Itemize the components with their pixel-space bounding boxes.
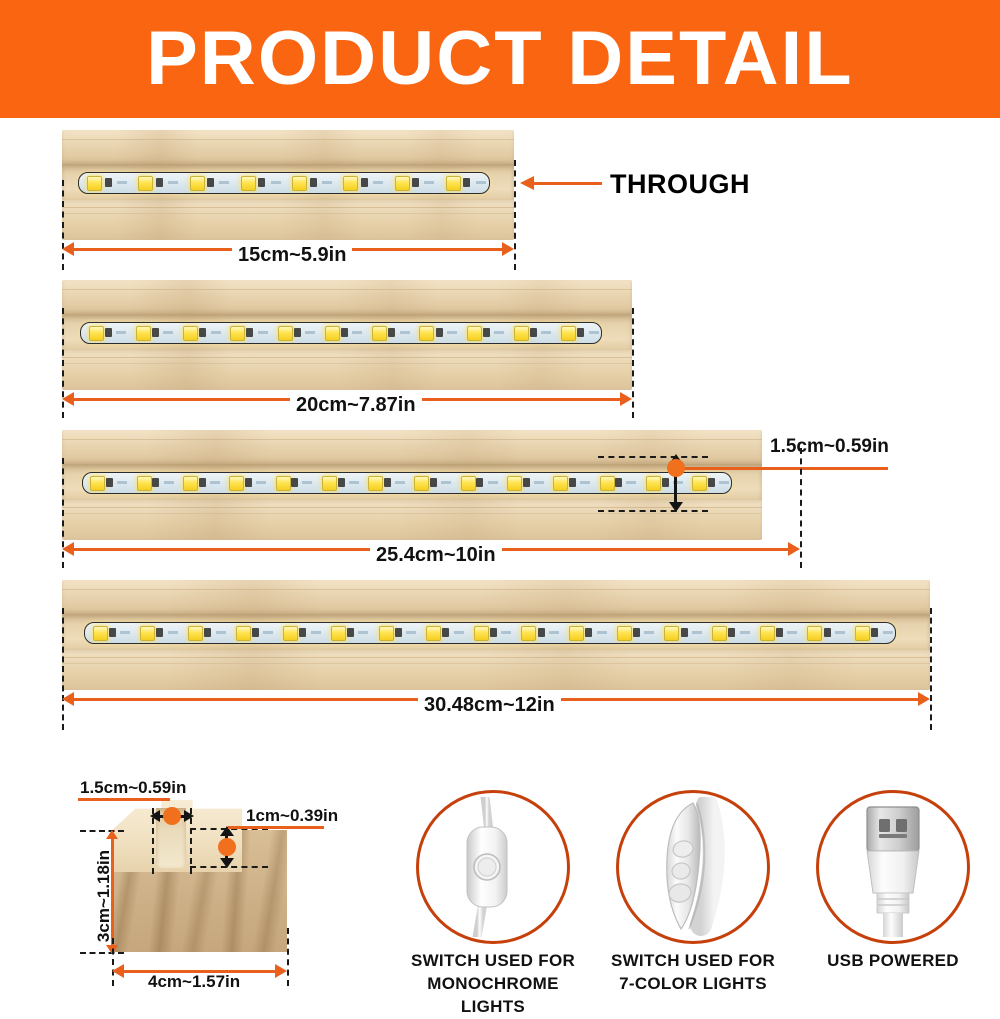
led-trace <box>216 631 226 634</box>
product-detail-stage: 15cm~5.9in THROUGH 20cm~7.87in <box>0 118 1000 1000</box>
led-solder-pad <box>523 478 530 487</box>
led-trace <box>395 481 405 484</box>
led-trace <box>501 631 511 634</box>
led-chip <box>467 326 482 341</box>
led-trace <box>441 481 451 484</box>
led-solder-pad <box>395 628 402 637</box>
led-solder-pad <box>490 628 497 637</box>
feature-caption-line2: MONOCHROME LIGHTS <box>398 973 588 1019</box>
feature-caption-line2: 7-COLOR LIGHTS <box>598 973 788 996</box>
led-trace <box>349 481 359 484</box>
led-solder-pad <box>310 178 317 187</box>
extension-line-right <box>930 608 932 730</box>
led-strip <box>84 622 896 644</box>
led-trace <box>447 331 457 334</box>
led-trace <box>322 181 332 184</box>
led-chip <box>236 626 251 641</box>
shelf-top-rail <box>62 430 762 464</box>
usb-connector-icon <box>823 797 963 937</box>
extension-line-right <box>514 160 516 270</box>
led-trace <box>883 631 893 634</box>
led-solder-pad <box>156 628 163 637</box>
led-trace <box>120 631 130 634</box>
led-trace <box>740 631 750 634</box>
led-trace <box>210 481 220 484</box>
led-chip <box>93 626 108 641</box>
led-solder-pad <box>105 328 112 337</box>
feature-ring <box>416 790 570 944</box>
led-solder-pad <box>361 178 368 187</box>
led-trace <box>256 481 266 484</box>
led-solder-pad <box>569 478 576 487</box>
shelf-20cm <box>62 280 632 390</box>
led-chip <box>521 626 536 641</box>
led-solder-pad <box>204 628 211 637</box>
led-chip <box>140 626 155 641</box>
shelf-led-channel <box>62 614 930 650</box>
led-chip <box>138 176 153 191</box>
led-solder-pad <box>681 628 688 637</box>
led-chip <box>190 176 205 191</box>
extension-line-right <box>800 448 802 568</box>
led-solder-pad <box>252 628 259 637</box>
led-trace <box>117 181 127 184</box>
led-trace <box>271 181 281 184</box>
led-solder-pad <box>109 628 116 637</box>
extension-line-left <box>62 608 64 730</box>
width-guide-right <box>287 928 289 986</box>
led-solder-pad <box>207 178 214 187</box>
led-solder-pad <box>585 628 592 637</box>
led-solder-pad <box>199 478 206 487</box>
led-trace <box>494 331 504 334</box>
led-chip <box>325 326 340 341</box>
led-chip <box>553 476 568 491</box>
feature-switch-monochrome: SWITCH USED FOR MONOCHROME LIGHTS <box>398 790 588 1000</box>
led-trace <box>719 481 729 484</box>
shelf-led-channel <box>62 314 632 350</box>
led-chip <box>569 626 584 641</box>
led-strip <box>78 172 490 194</box>
led-chip <box>760 626 775 641</box>
depth-leader-line <box>676 467 888 470</box>
led-trace <box>589 331 599 334</box>
dimension-label-groove-depth-cs: 1cm~0.39in <box>246 806 338 826</box>
led-chip <box>136 326 151 341</box>
led-solder-pad <box>728 628 735 637</box>
led-solder-pad <box>577 328 584 337</box>
led-chip <box>183 476 198 491</box>
header-banner: PRODUCT DETAIL <box>0 0 1000 118</box>
led-solder-pad <box>412 178 419 187</box>
extension-line-right <box>632 308 634 418</box>
led-solder-pad <box>615 478 622 487</box>
through-label: THROUGH <box>610 169 750 200</box>
depth-guide-top <box>598 456 708 458</box>
feature-caption: USB POWERED <box>798 950 988 973</box>
shelf-top-rail <box>62 130 514 164</box>
led-chip <box>461 476 476 491</box>
led-trace <box>358 631 368 634</box>
dimension-label-height: 3cm~1.18in <box>94 850 114 942</box>
led-solder-pad <box>384 478 391 487</box>
feature-caption: SWITCH USED FOR 7-COLOR LIGHTS <box>598 950 788 996</box>
led-chip <box>137 476 152 491</box>
dimension-label-30cm: 30.48cm~12in <box>418 694 561 717</box>
led-chip <box>278 326 293 341</box>
led-strip <box>80 322 602 344</box>
led-chip <box>807 626 822 641</box>
shelf-15cm <box>62 130 514 240</box>
led-trace <box>164 481 174 484</box>
led-trace <box>534 481 544 484</box>
led-trace <box>597 631 607 634</box>
led-chip <box>343 176 358 191</box>
feature-ring <box>616 790 770 944</box>
feature-switch-7color: SWITCH USED FOR 7-COLOR LIGHTS <box>598 790 788 1000</box>
led-chip <box>372 326 387 341</box>
led-solder-pad <box>156 178 163 187</box>
led-chip <box>426 626 441 641</box>
groove-width-leader <box>78 798 170 801</box>
led-chip <box>474 626 489 641</box>
shelf-30cm <box>62 580 930 690</box>
led-trace <box>406 631 416 634</box>
led-solder-pad <box>341 328 348 337</box>
led-chip <box>90 476 105 491</box>
led-chip <box>712 626 727 641</box>
dimension-label-groove-depth: 1.5cm~0.59in <box>764 436 895 458</box>
led-trace <box>580 481 590 484</box>
shelf-front-lip <box>62 350 632 390</box>
led-trace <box>424 181 434 184</box>
led-trace <box>541 331 551 334</box>
led-trace <box>168 181 178 184</box>
inline-switch-icon <box>423 797 563 937</box>
led-solder-pad <box>538 628 545 637</box>
feature-caption-line1: SWITCH USED FOR <box>398 950 588 973</box>
led-chip <box>229 476 244 491</box>
led-solder-pad <box>299 628 306 637</box>
led-trace <box>692 631 702 634</box>
led-chip <box>664 626 679 641</box>
led-solder-pad <box>871 628 878 637</box>
shelf-top-rail <box>62 580 930 614</box>
led-solder-pad <box>294 328 301 337</box>
led-trace <box>454 631 464 634</box>
led-chip <box>379 626 394 641</box>
led-chip <box>292 176 307 191</box>
led-chip <box>183 326 198 341</box>
led-chip <box>188 626 203 641</box>
led-solder-pad <box>824 628 831 637</box>
led-trace <box>644 631 654 634</box>
led-trace <box>488 481 498 484</box>
led-chip <box>368 476 383 491</box>
led-chip <box>617 626 632 641</box>
shelf-led-channel <box>62 464 762 500</box>
led-chip <box>283 626 298 641</box>
led-trace <box>219 181 229 184</box>
cross-section-diagram: 1.5cm~0.59in 1cm~0.39in 3cm~1.18in 4cm~1… <box>70 778 380 1000</box>
extension-line-left <box>62 180 64 270</box>
led-chip <box>419 326 434 341</box>
led-trace <box>311 631 321 634</box>
dimension-label-20cm: 20cm~7.87in <box>290 394 422 417</box>
groove-depth-leader <box>228 826 324 829</box>
led-solder-pad <box>199 328 206 337</box>
led-chip <box>561 326 576 341</box>
led-trace <box>302 481 312 484</box>
shelf-front-lip <box>62 500 762 540</box>
led-solder-pad <box>258 178 265 187</box>
led-strip <box>82 472 732 494</box>
shelf-led-channel <box>62 164 514 200</box>
led-chip <box>322 476 337 491</box>
led-chip <box>507 476 522 491</box>
page-title: PRODUCT DETAIL <box>146 21 854 97</box>
three-button-remote-icon <box>623 797 763 937</box>
dimension-label-groove-width: 1.5cm~0.59in <box>80 778 186 798</box>
shelf-front-lip <box>62 650 930 690</box>
feature-ring <box>816 790 970 944</box>
led-solder-pad <box>530 328 537 337</box>
led-trace <box>258 331 268 334</box>
led-solder-pad <box>347 628 354 637</box>
led-solder-pad <box>430 478 437 487</box>
led-solder-pad <box>245 478 252 487</box>
led-trace <box>116 331 126 334</box>
led-solder-pad <box>388 328 395 337</box>
led-solder-pad <box>463 178 470 187</box>
led-trace <box>168 631 178 634</box>
led-solder-pad <box>483 328 490 337</box>
led-chip <box>855 626 870 641</box>
led-solder-pad <box>776 628 783 637</box>
led-solder-pad <box>105 178 112 187</box>
led-trace <box>787 631 797 634</box>
led-trace <box>835 631 845 634</box>
led-solder-pad <box>246 328 253 337</box>
led-chip <box>230 326 245 341</box>
led-chip <box>414 476 429 491</box>
led-solder-pad <box>152 478 159 487</box>
shelf-top-rail <box>62 280 632 314</box>
led-trace <box>305 331 315 334</box>
led-chip <box>446 176 461 191</box>
led-chip <box>600 476 615 491</box>
led-trace <box>373 181 383 184</box>
led-chip <box>241 176 256 191</box>
depth-leader-dot <box>667 459 685 477</box>
led-chip <box>646 476 661 491</box>
shelf-25cm <box>62 430 762 540</box>
led-chip <box>276 476 291 491</box>
feature-caption-line1: SWITCH USED FOR <box>598 950 788 973</box>
led-trace <box>626 481 636 484</box>
led-trace <box>263 631 273 634</box>
feature-caption-line1: USB POWERED <box>798 950 988 973</box>
led-trace <box>117 481 127 484</box>
led-solder-pad <box>436 328 443 337</box>
feature-caption: SWITCH USED FOR MONOCHROME LIGHTS <box>398 950 588 1019</box>
led-chip <box>89 326 104 341</box>
depth-guide-bottom <box>598 510 708 512</box>
led-trace <box>400 331 410 334</box>
led-solder-pad <box>338 478 345 487</box>
feature-usb-powered: USB POWERED <box>798 790 988 1000</box>
led-solder-pad <box>708 478 715 487</box>
led-solder-pad <box>476 478 483 487</box>
dimension-label-width: 4cm~1.57in <box>148 972 240 992</box>
led-chip <box>514 326 529 341</box>
groove-width-dot <box>163 807 181 825</box>
led-chip <box>395 176 410 191</box>
dimension-label-25cm: 25.4cm~10in <box>370 544 502 567</box>
shelf-front-lip <box>62 200 514 240</box>
led-solder-pad <box>152 328 159 337</box>
led-trace <box>549 631 559 634</box>
width-guide-left <box>112 938 114 986</box>
led-solder-pad <box>291 478 298 487</box>
led-solder-pad <box>106 478 113 487</box>
led-solder-pad <box>633 628 640 637</box>
groove-depth-dot <box>218 838 236 856</box>
led-solder-pad <box>442 628 449 637</box>
led-trace <box>476 181 486 184</box>
led-solder-pad <box>662 478 669 487</box>
led-chip <box>331 626 346 641</box>
led-chip <box>87 176 102 191</box>
through-arrow <box>520 176 602 190</box>
led-trace <box>352 331 362 334</box>
led-trace <box>163 331 173 334</box>
dimension-label-15cm: 15cm~5.9in <box>232 244 352 267</box>
led-chip <box>692 476 707 491</box>
led-trace <box>211 331 221 334</box>
